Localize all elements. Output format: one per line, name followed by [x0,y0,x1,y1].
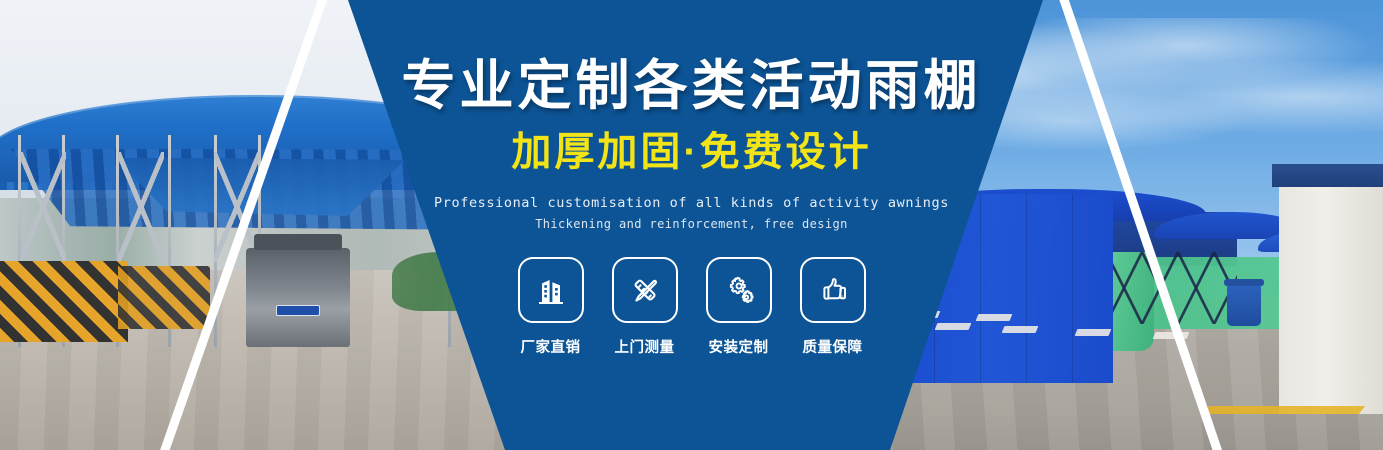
english-tagline-secondary: Thickening and reinforcement, free desig… [535,217,848,231]
feature-label: 上门测量 [615,336,675,357]
feature-label: 质量保障 [803,336,863,357]
gears-icon [706,257,772,323]
subheadline: 加厚加固·免费设计 [511,131,871,173]
building-icon [518,257,584,323]
feature-item-onsite-measure[interactable]: 上门测量 [609,257,681,357]
promo-banner: 专业定制各类活动雨棚 加厚加固·免费设计 Professional custom… [0,0,1383,450]
feature-label: 安装定制 [709,336,769,357]
feature-item-install-custom[interactable]: 安装定制 [703,257,775,357]
feature-list: 厂家直销 上门测量 [515,257,869,357]
english-tagline-primary: Professional customisation of all kinds … [434,195,949,211]
headline: 专业定制各类活动雨棚 [402,58,982,115]
feature-item-factory-direct[interactable]: 厂家直销 [515,257,587,357]
thumbs-up-icon [800,257,866,323]
feature-label: 厂家直销 [521,336,581,357]
banner-content: 专业定制各类活动雨棚 加厚加固·免费设计 Professional custom… [0,0,1383,450]
ruler-pencil-icon [612,257,678,323]
feature-item-quality-guarantee[interactable]: 质量保障 [797,257,869,357]
